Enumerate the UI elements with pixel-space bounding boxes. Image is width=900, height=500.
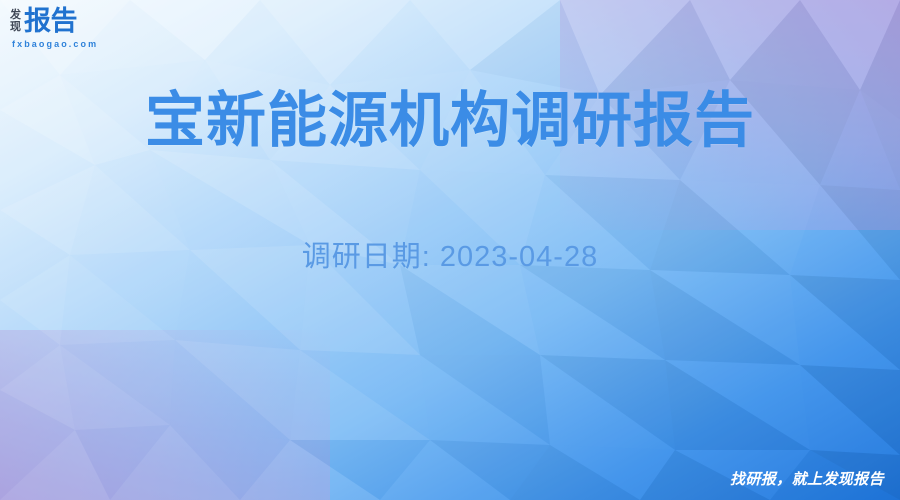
- logo-stacked-characters: 发 现: [10, 9, 21, 34]
- watermark-tagline: 找研报，就上发现报告: [730, 468, 884, 489]
- logo-wordmark: 发 现 报告: [10, 8, 77, 35]
- logo-char-xian: 现: [10, 22, 21, 34]
- page-title: 宝新能源机构调研报告: [0, 88, 900, 154]
- logo-domain-text: fxbaogao.com: [12, 39, 98, 49]
- report-cover-slide: 发 现 报告 fxbaogao.com 宝新能源机构调研报告 调研日期: 202…: [0, 0, 900, 500]
- fxbaogao-logo[interactable]: 发 现 报告 fxbaogao.com: [10, 8, 98, 49]
- survey-date-subtitle: 调研日期: 2023-04-28: [0, 233, 900, 275]
- logo-main-text: 报告: [24, 8, 77, 35]
